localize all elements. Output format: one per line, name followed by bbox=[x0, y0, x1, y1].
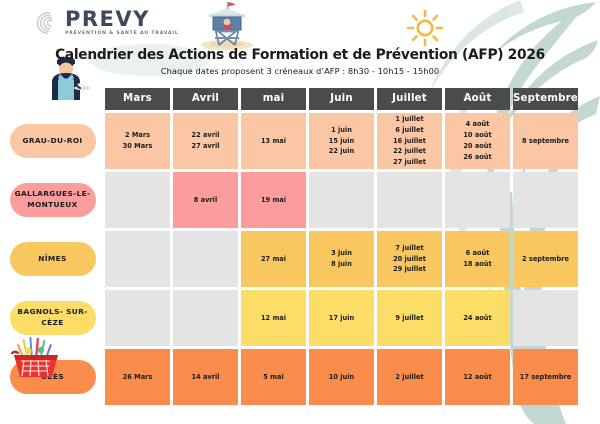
date-entry: 27 mai bbox=[261, 254, 286, 265]
date-entry: 18 août bbox=[463, 259, 491, 270]
date-entry: 1 juillet bbox=[395, 114, 423, 125]
date-entry: 26 Mars bbox=[123, 372, 153, 383]
row-label-cell: NÎMES bbox=[0, 231, 105, 287]
row-cells: 2 Mars30 Mars22 avril27 avril13 mai1 jui… bbox=[105, 113, 600, 169]
calendar-table: Mars Avril mai Juin Juillet Août Septemb… bbox=[0, 88, 600, 405]
empty-cell bbox=[445, 172, 510, 228]
table-row: GRAU-DU-ROI2 Mars30 Mars22 avril27 avril… bbox=[0, 113, 600, 169]
date-entry: 7 juillet bbox=[395, 243, 423, 254]
date-entry: 4 août bbox=[466, 119, 490, 130]
page-subtitle: Chaque dates proposent 3 créneaux d’AFP … bbox=[0, 66, 600, 76]
column-header[interactable]: mai bbox=[241, 88, 306, 110]
column-header[interactable]: Juillet bbox=[377, 88, 442, 110]
date-cell[interactable]: 19 mai bbox=[241, 172, 306, 228]
table-row: GALLARGUES-LE-MONTUEUX8 avril19 mai bbox=[0, 172, 600, 228]
page-header: PREVY PRÉVENTION & SANTÉ AU TRAVAIL Cale… bbox=[0, 0, 600, 88]
date-entry: 17 septembre bbox=[520, 372, 572, 383]
empty-cell bbox=[173, 231, 238, 287]
row-label-cell: GALLARGUES-LE-MONTUEUX bbox=[0, 172, 105, 228]
date-entry: 20 juillet bbox=[393, 254, 426, 265]
empty-cell bbox=[377, 172, 442, 228]
site-label-pill[interactable]: GALLARGUES-LE-MONTUEUX bbox=[10, 183, 96, 217]
empty-cell bbox=[513, 172, 578, 228]
date-entry: 14 avril bbox=[192, 372, 220, 383]
date-cell[interactable]: 27 mai bbox=[241, 231, 306, 287]
date-entry: 16 juillet bbox=[393, 136, 426, 147]
brand-logo: PREVY PRÉVENTION & SANTÉ AU TRAVAIL bbox=[34, 9, 179, 37]
date-cell[interactable]: 2 septembre bbox=[513, 231, 578, 287]
brand-name: PREVY bbox=[65, 9, 179, 30]
date-cell[interactable]: 22 avril27 avril bbox=[173, 113, 238, 169]
date-cell[interactable]: 26 Mars bbox=[105, 349, 170, 405]
date-entry: 5 mai bbox=[263, 372, 283, 383]
date-entry: 29 juillet bbox=[393, 264, 426, 275]
date-entry: 30 Mars bbox=[123, 141, 153, 152]
table-header-row: Mars Avril mai Juin Juillet Août Septemb… bbox=[0, 88, 600, 110]
date-cell[interactable]: 17 juin bbox=[309, 290, 374, 346]
table-body: GRAU-DU-ROI2 Mars30 Mars22 avril27 avril… bbox=[0, 113, 600, 405]
date-cell[interactable]: 12 août bbox=[445, 349, 510, 405]
date-entry: 12 mai bbox=[261, 313, 286, 324]
column-header[interactable]: Mars bbox=[105, 88, 170, 110]
date-entry: 8 juin bbox=[331, 259, 352, 270]
date-cell[interactable]: 6 août18 août bbox=[445, 231, 510, 287]
date-entry: 15 juin bbox=[329, 136, 354, 147]
row-cells: 27 mai3 juin8 juin7 juillet20 juillet29 … bbox=[105, 231, 600, 287]
empty-cell bbox=[105, 231, 170, 287]
date-entry: 22 avril bbox=[192, 130, 220, 141]
table-row: UZÈS26 Mars14 avril5 mai10 juin2 juillet… bbox=[0, 349, 600, 405]
date-cell[interactable]: 2 juillet bbox=[377, 349, 442, 405]
date-cell[interactable]: 10 juin bbox=[309, 349, 374, 405]
date-cell[interactable]: 14 avril bbox=[173, 349, 238, 405]
fingerprint-icon bbox=[34, 10, 60, 36]
date-cell[interactable]: 7 juillet20 juillet29 juillet bbox=[377, 231, 442, 287]
row-cells: 8 avril19 mai bbox=[105, 172, 600, 228]
date-entry: 2 septembre bbox=[522, 254, 569, 265]
row-label-cell: GRAU-DU-ROI bbox=[0, 113, 105, 169]
date-entry: 27 avril bbox=[192, 141, 220, 152]
date-cell[interactable]: 1 juillet6 juillet16 juillet22 juillet27… bbox=[377, 113, 442, 169]
date-cell[interactable]: 12 mai bbox=[241, 290, 306, 346]
date-entry: 2 juillet bbox=[395, 372, 423, 383]
date-entry: 1 juin bbox=[331, 125, 352, 136]
date-cell[interactable]: 8 septembre bbox=[513, 113, 578, 169]
column-header[interactable]: Septembre bbox=[513, 88, 578, 110]
empty-cell bbox=[309, 172, 374, 228]
page-title: Calendrier des Actions de Formation et d… bbox=[9, 47, 591, 63]
date-entry: 12 août bbox=[463, 372, 491, 383]
date-entry: 6 juillet bbox=[395, 125, 423, 136]
date-entry: 24 août bbox=[463, 313, 491, 324]
date-cell[interactable]: 2 Mars30 Mars bbox=[105, 113, 170, 169]
empty-cell bbox=[105, 172, 170, 228]
site-label-pill[interactable]: BAGNOLS- SUR- CÈZE bbox=[10, 301, 96, 335]
date-entry: 22 juillet bbox=[393, 146, 426, 157]
date-entry: 10 août bbox=[463, 130, 491, 141]
header-cells: Mars Avril mai Juin Juillet Août Septemb… bbox=[105, 88, 600, 110]
date-entry: 19 mai bbox=[261, 195, 286, 206]
date-entry: 6 août bbox=[466, 248, 490, 259]
empty-cell bbox=[513, 290, 578, 346]
date-entry: 20 août bbox=[463, 141, 491, 152]
date-entry: 17 juin bbox=[329, 313, 354, 324]
date-cell[interactable]: 8 avril bbox=[173, 172, 238, 228]
date-entry: 9 juillet bbox=[395, 313, 423, 324]
date-cell[interactable]: 13 mai bbox=[241, 113, 306, 169]
date-entry: 2 Mars bbox=[125, 130, 150, 141]
date-entry: 22 juin bbox=[329, 146, 354, 157]
picnic-basket-illustration bbox=[8, 335, 66, 383]
table-row: BAGNOLS- SUR- CÈZE12 mai17 juin9 juillet… bbox=[0, 290, 600, 346]
column-header[interactable]: Avril bbox=[173, 88, 238, 110]
column-header[interactable]: Août bbox=[445, 88, 510, 110]
date-cell[interactable]: 4 août10 août20 août26 août bbox=[445, 113, 510, 169]
row-cells: 12 mai17 juin9 juillet24 août bbox=[105, 290, 600, 346]
date-entry: 8 septembre bbox=[522, 136, 569, 147]
date-entry: 13 mai bbox=[261, 136, 286, 147]
site-label-pill[interactable]: NÎMES bbox=[10, 242, 96, 276]
lifeguard-tower-icon bbox=[196, 1, 258, 51]
date-cell[interactable]: 5 mai bbox=[241, 349, 306, 405]
date-cell[interactable]: 24 août bbox=[445, 290, 510, 346]
brand-tagline: PRÉVENTION & SANTÉ AU TRAVAIL bbox=[65, 32, 179, 37]
date-cell[interactable]: 9 juillet bbox=[377, 290, 442, 346]
column-header[interactable]: Juin bbox=[309, 88, 374, 110]
site-label-pill[interactable]: GRAU-DU-ROI bbox=[10, 124, 96, 158]
date-cell[interactable]: 1 juin15 juin22 juin bbox=[309, 113, 374, 169]
empty-cell bbox=[173, 290, 238, 346]
row-cells: 26 Mars14 avril5 mai10 juin2 juillet12 a… bbox=[105, 349, 600, 405]
date-entry: 27 juillet bbox=[393, 157, 426, 168]
empty-cell bbox=[105, 290, 170, 346]
date-cell[interactable]: 3 juin8 juin bbox=[309, 231, 374, 287]
sun-icon bbox=[405, 8, 445, 48]
date-entry: 26 août bbox=[463, 152, 491, 163]
header-corner-spacer bbox=[0, 88, 105, 110]
date-entry: 10 juin bbox=[329, 372, 354, 383]
table-row: NÎMES27 mai3 juin8 juin7 juillet20 juill… bbox=[0, 231, 600, 287]
date-cell[interactable]: 17 septembre bbox=[513, 349, 578, 405]
date-entry: 3 juin bbox=[331, 248, 352, 259]
date-entry: 8 avril bbox=[194, 195, 217, 206]
